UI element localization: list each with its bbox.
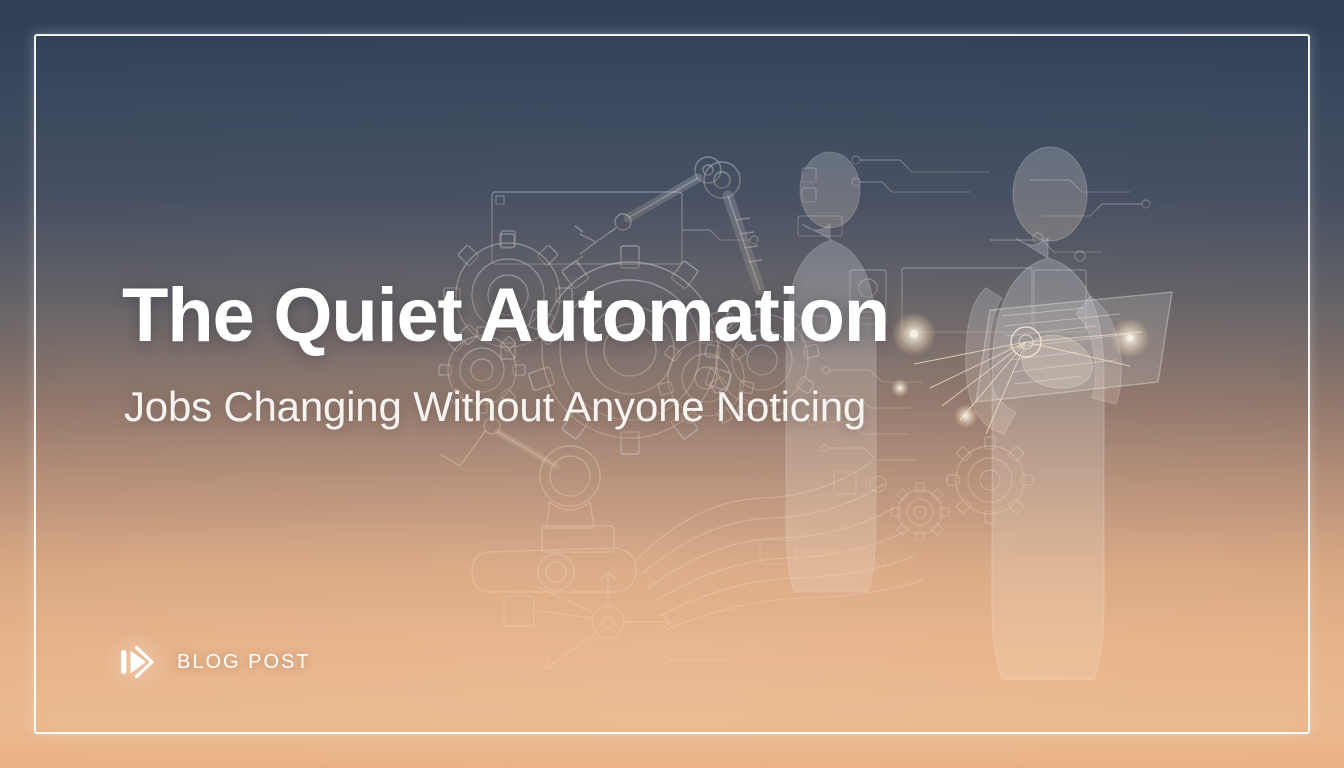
- page-subtitle: Jobs Changing Without Anyone Noticing: [124, 386, 866, 428]
- play-logo-icon: [110, 636, 162, 688]
- page-title: The Quiet Automation: [122, 278, 889, 354]
- blog-post-badge: BLOG POST: [110, 636, 311, 688]
- badge-label: BLOG POST: [177, 651, 311, 674]
- blog-post-banner: The Quiet Automation Jobs Changing Witho…: [0, 0, 1344, 768]
